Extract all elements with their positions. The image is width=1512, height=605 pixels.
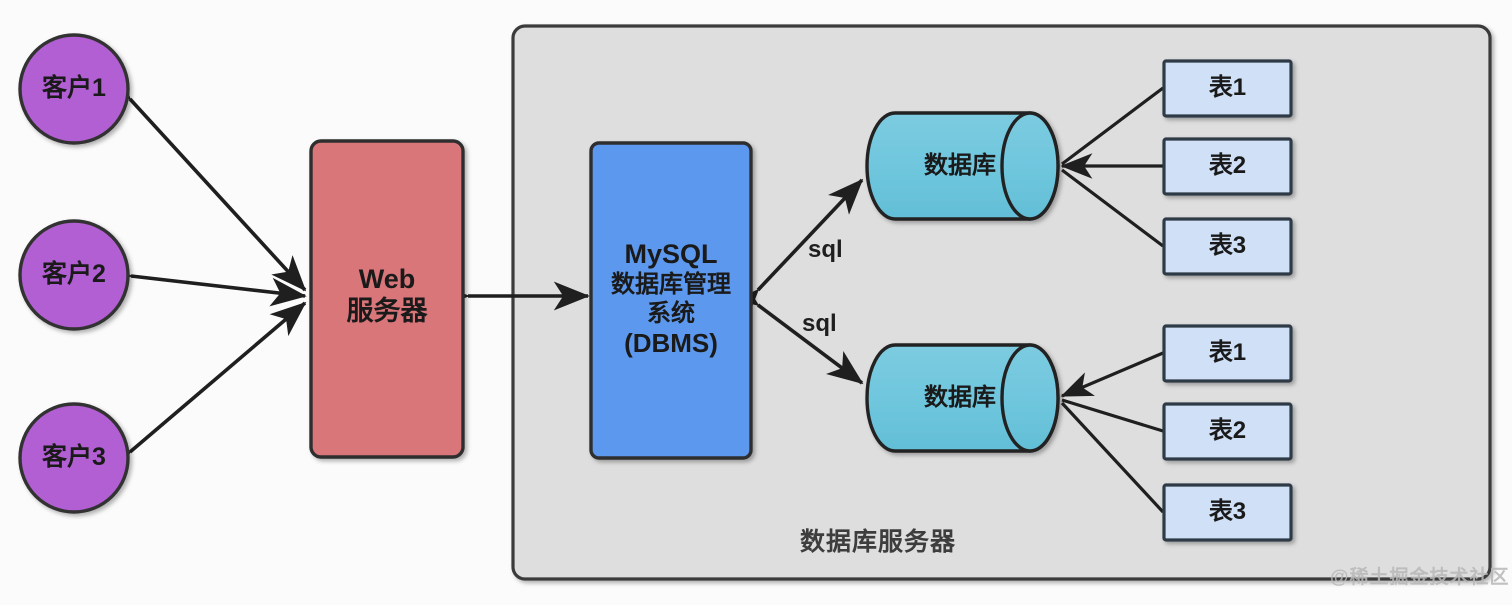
edge-label-sql-top: sql [808, 236, 843, 264]
database-cylinder-2 [867, 345, 1058, 451]
dbms-box [591, 143, 751, 458]
diagram-shapes-layer [0, 0, 1512, 605]
web-server-box [311, 141, 463, 457]
edge-client3-webserver [130, 303, 305, 452]
table-box-1-3 [1164, 219, 1291, 274]
client-node-1 [20, 35, 128, 143]
table-box-1-1 [1164, 61, 1291, 116]
client-node-2 [20, 221, 128, 329]
diagram-canvas: 客户1 客户2 客户3 Web 服务器 MySQL 数据库管理 系统 (DBMS… [0, 0, 1512, 605]
edge-label-sql-bottom: sql [802, 310, 837, 338]
watermark: @稀土掘金技术社区 [1330, 562, 1510, 589]
client-node-3 [20, 404, 128, 512]
table-box-2-2 [1164, 404, 1291, 459]
database-server-container-label: 数据库服务器 [800, 522, 956, 558]
database-cylinder-1 [867, 113, 1058, 219]
table-box-2-3 [1164, 485, 1291, 540]
table-box-2-1 [1164, 326, 1291, 381]
edge-client1-webserver [130, 99, 305, 290]
edge-client2-webserver [131, 276, 305, 296]
table-box-1-2 [1164, 139, 1291, 194]
